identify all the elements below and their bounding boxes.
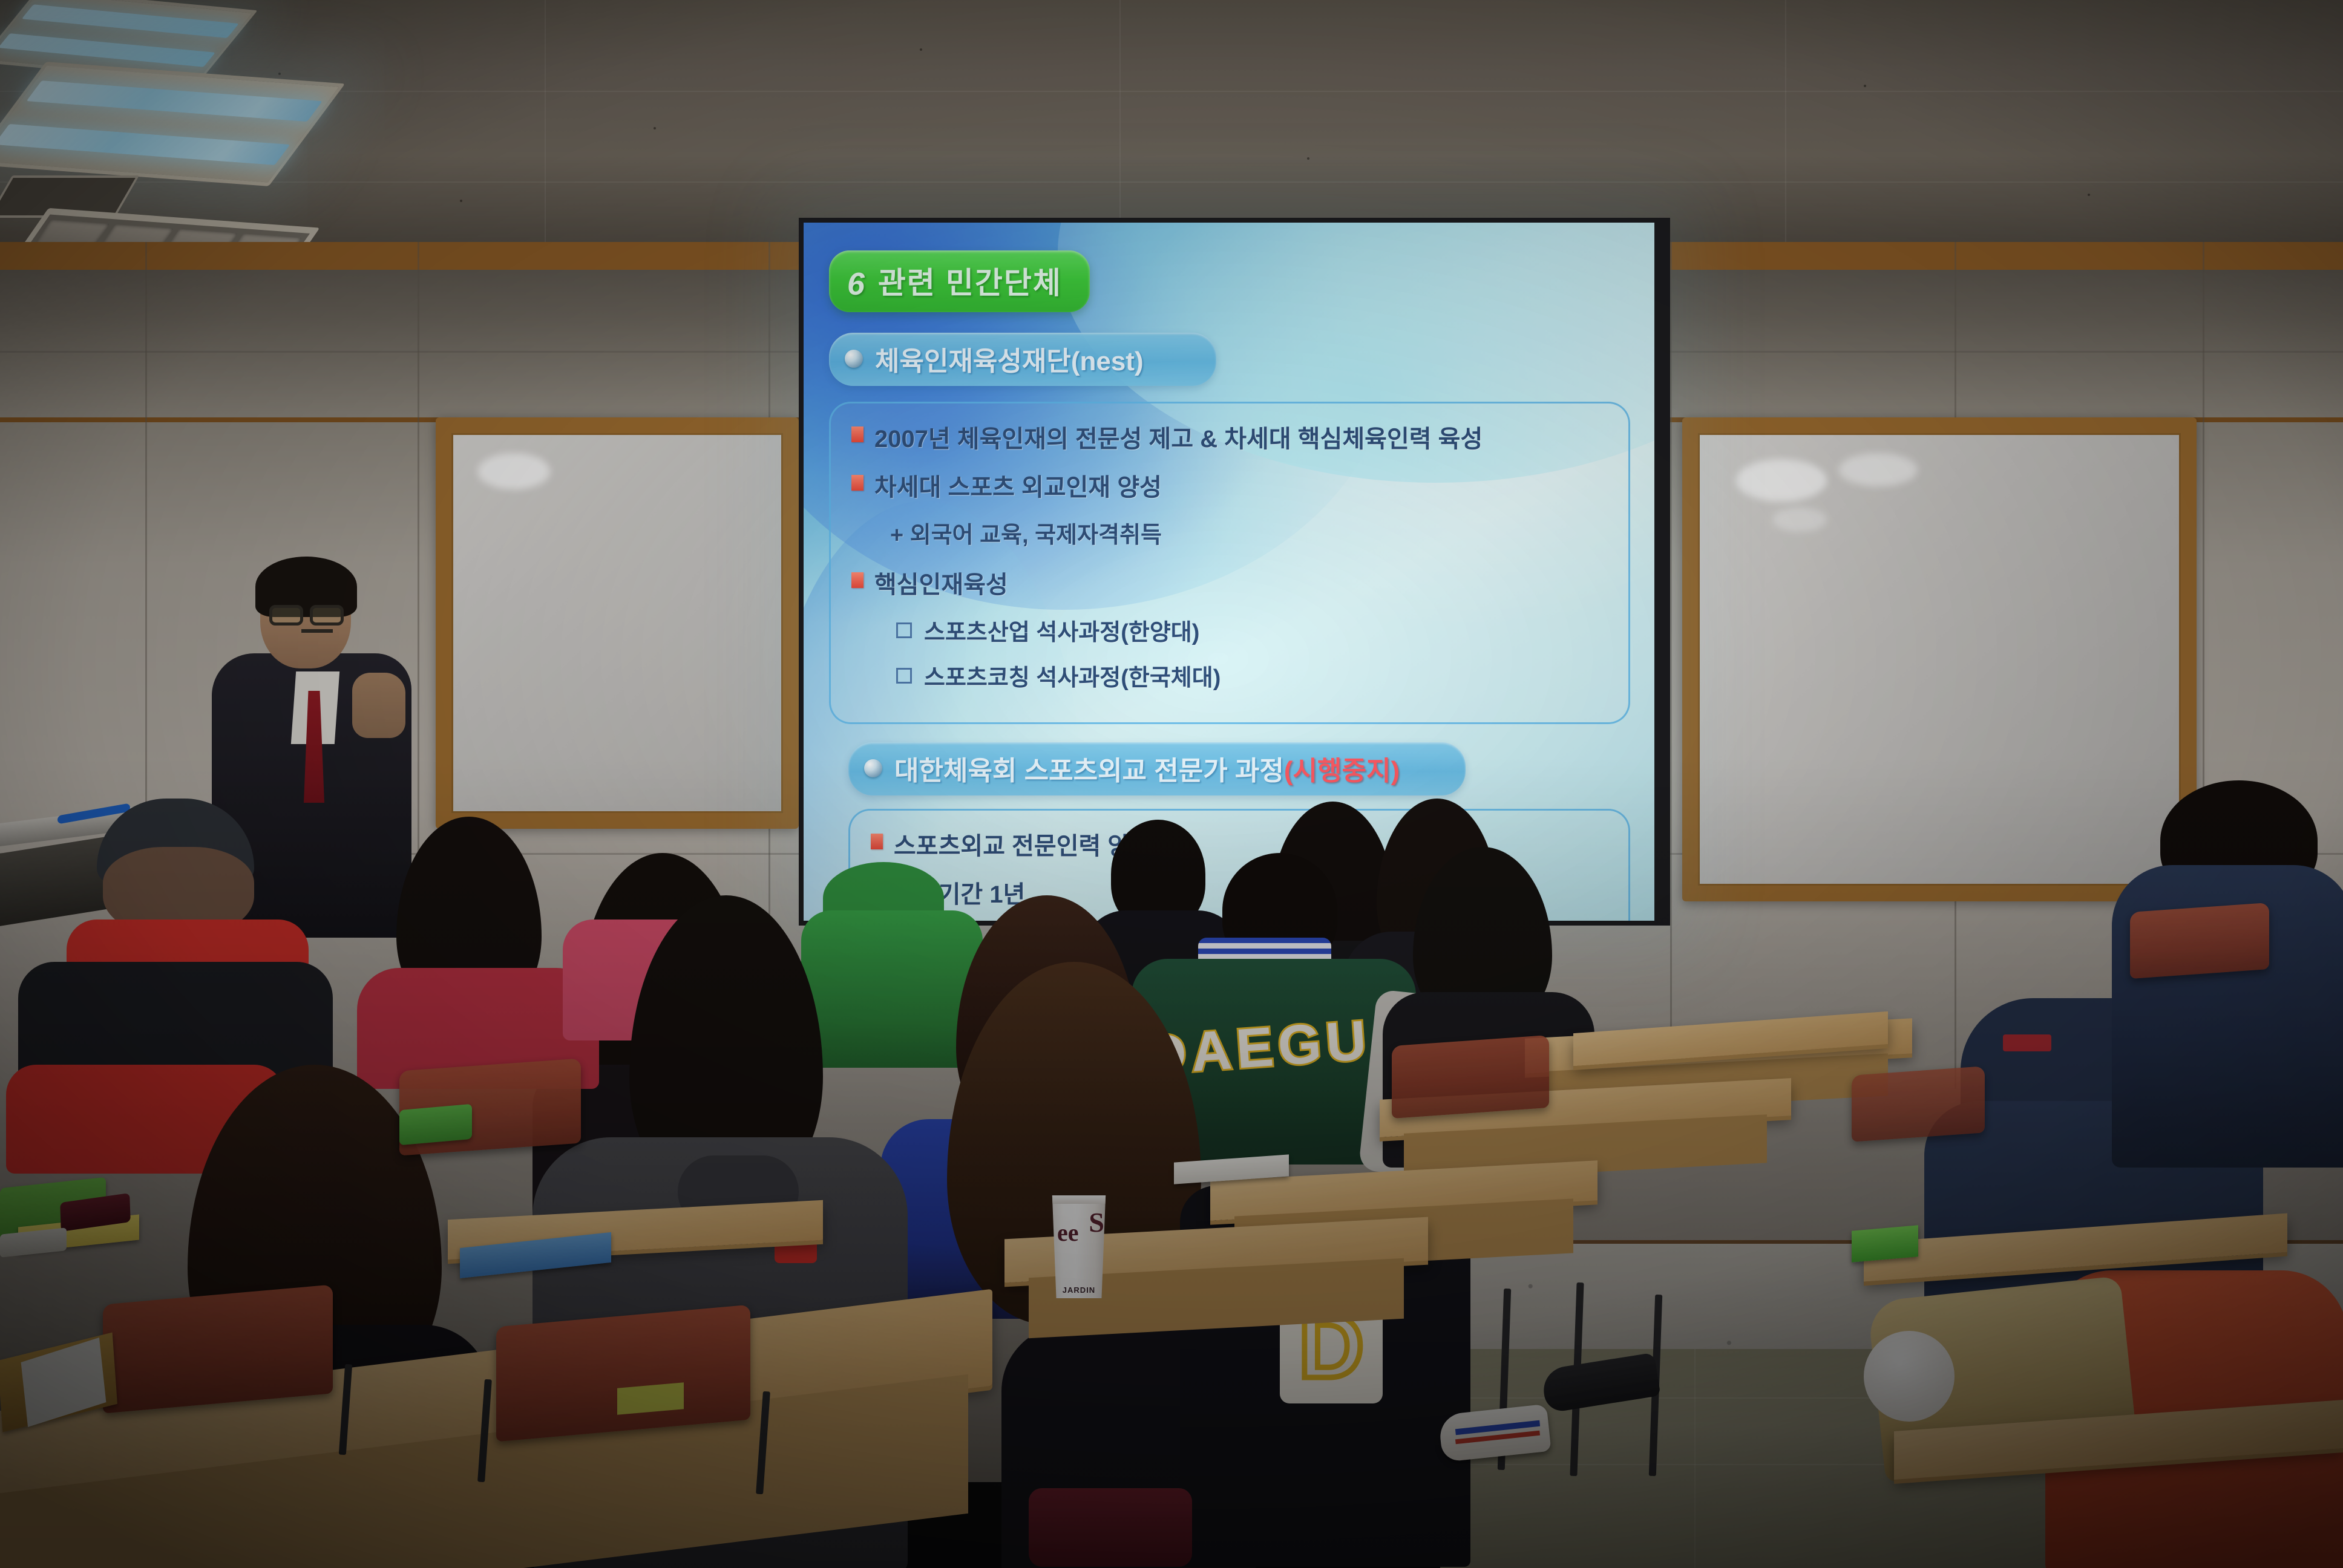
square-bullet-icon: [851, 426, 863, 442]
slide-section-1-body: 2007년 체육인재의 전문성 제고 & 차세대 핵심체육인력 육성 차세대 스…: [829, 402, 1630, 724]
glasses-bridge-icon: [301, 629, 333, 633]
slide-title-badge: 6관련 민간단체: [829, 250, 1090, 312]
slide-bullet: 핵심인재육성: [851, 565, 1608, 600]
cup-rim: [1047, 1195, 1110, 1204]
white-fur-pompom: [1864, 1331, 1955, 1422]
slide-subbullet: + 외국어 교육, 국제자격취득: [890, 516, 1608, 549]
chair[interactable]: [2130, 903, 2269, 979]
square-bullet-icon: [871, 834, 883, 849]
sphere-bullet-icon: [864, 759, 882, 777]
slide-title-number: 6: [847, 267, 865, 302]
checkbox-icon: [896, 668, 912, 684]
chair[interactable]: [103, 1284, 333, 1413]
sphere-bullet-icon: [845, 350, 863, 368]
student-navy-hood-far-right: [2112, 829, 2343, 1168]
chair[interactable]: [496, 1305, 750, 1442]
coffee-cup[interactable]: S ee JARDIN: [1050, 1195, 1108, 1298]
slide-section-heading-2: 대한체육회 스포츠외교 전문가 과정(시행중지): [848, 742, 1466, 795]
slide-section-heading-1-text: 체육인재육성재단(nest): [875, 339, 1144, 378]
pencil-pouch[interactable]: [399, 1104, 472, 1145]
slide-section-heading-1: 체육인재육성재단(nest): [829, 333, 1216, 386]
jacket-logo-patch: [2003, 1034, 2051, 1051]
slide-checkbox-item: 스포츠코칭 석사과정(한국체대): [896, 659, 1608, 692]
presenter-hand: [352, 673, 405, 738]
classroom-photo-scene: 6관련 민간단체 체육인재육성재단(nest) 2007년 체육인재의 전문성 …: [0, 0, 2343, 1568]
glasses-icon: [269, 605, 303, 626]
square-bullet-icon: [851, 572, 863, 588]
chair[interactable]: [1392, 1035, 1549, 1119]
slide-bullet: 2007년 체육인재의 전문성 제고 & 차세대 핵심체육인력 육성: [851, 419, 1608, 454]
backpack[interactable]: [1029, 1488, 1192, 1567]
projection-screen-frame: 6관련 민간단체 체육인재육성재단(nest) 2007년 체육인재의 전문성 …: [799, 218, 1670, 926]
cup-brand-text: JARDIN: [1050, 1285, 1108, 1295]
checkbox-icon: [896, 622, 912, 638]
slide-bullet: 차세대 스포츠 외교인재 양성: [851, 468, 1608, 503]
square-bullet-icon: [851, 475, 863, 491]
left-whiteboard: [436, 417, 799, 829]
cup-logo-text: ee: [1057, 1222, 1102, 1244]
slide-checkbox-item: 스포츠산업 석사과정(한양대): [896, 613, 1608, 647]
glasses-icon: [310, 605, 344, 626]
slide-section-heading-2-text: 대한체육회 스포츠외교 전문가 과정(시행중지): [894, 749, 1400, 788]
fluorescent-light-left-lit: [0, 62, 345, 186]
slide-section-heading-2-note: (시행중지): [1284, 756, 1400, 786]
chair[interactable]: [1852, 1066, 1985, 1142]
notebook[interactable]: [1852, 1225, 1918, 1263]
slide-title-text: 관련 민간단체: [878, 266, 1062, 300]
